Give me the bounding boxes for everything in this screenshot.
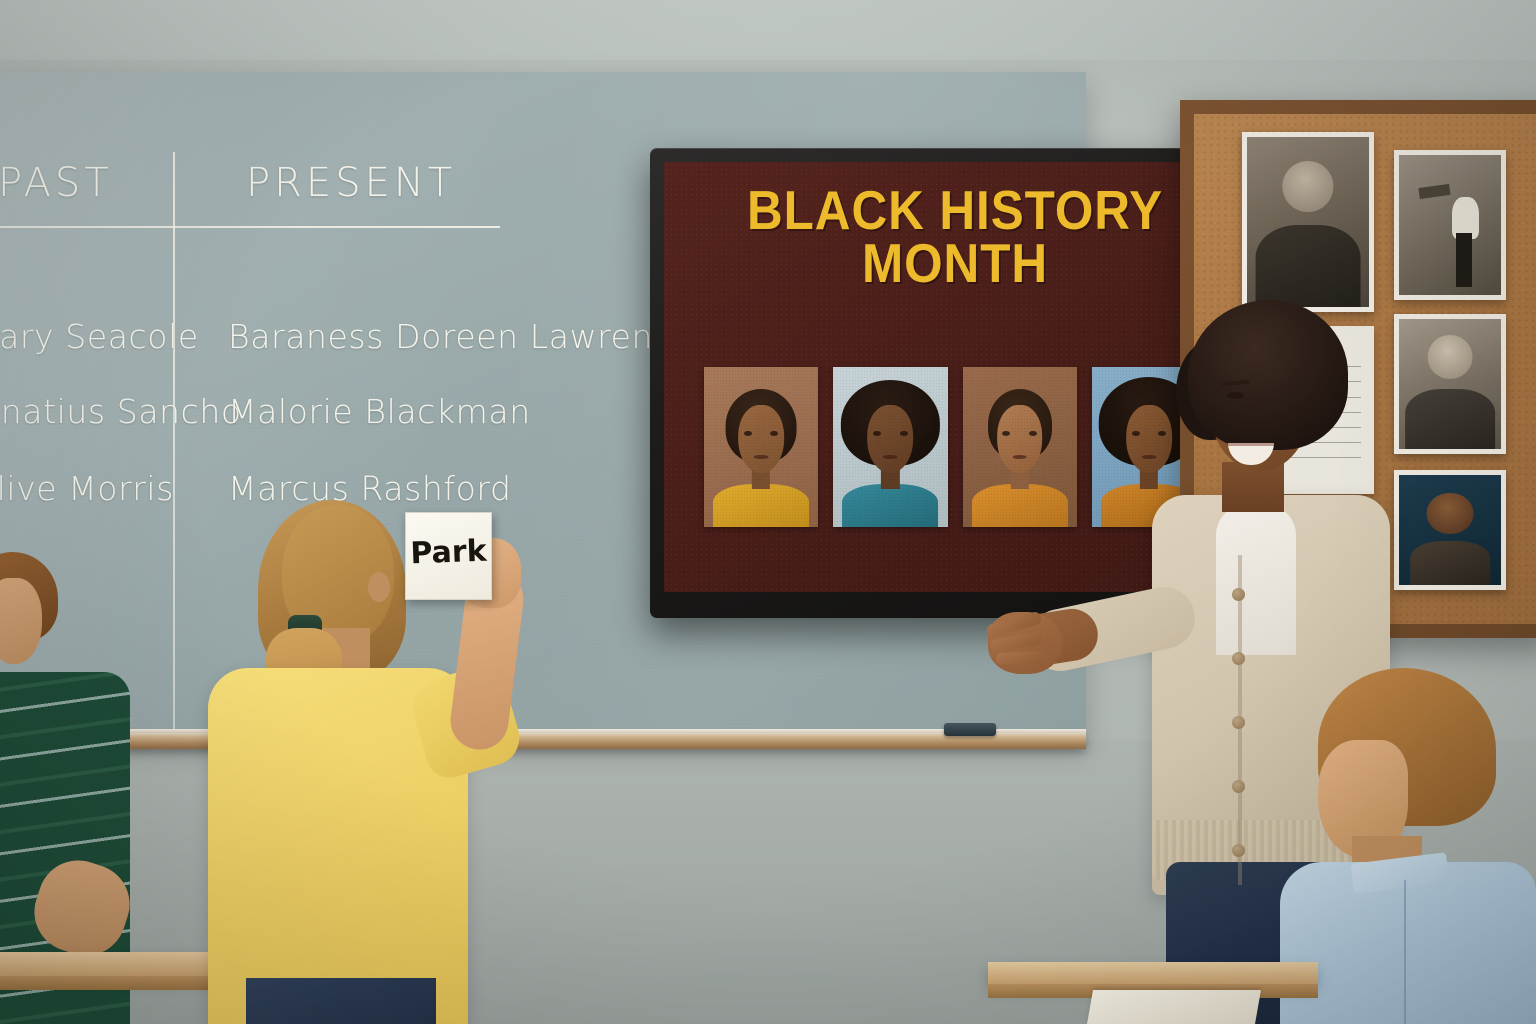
column-header-present: PRESENT [246, 160, 456, 206]
slide-portrait-3 [963, 367, 1077, 527]
teacher-button-1 [1232, 588, 1245, 601]
teacher-button-5 [1232, 844, 1245, 857]
past-name-3: Olive Morris [0, 469, 174, 508]
header-rule [0, 226, 500, 228]
teacher-top [1216, 505, 1296, 655]
past-name-2: Ignatius Sancho [0, 392, 242, 431]
board-photo-color[interactable] [1394, 470, 1506, 590]
slide-title-line2: MONTH [693, 237, 1217, 290]
column-header-past: PAST [0, 160, 113, 206]
classroom-scene: PAST PRESENT Mary Seacole Ignatius Sanch… [0, 0, 1536, 1024]
slide-portrait-1 [704, 367, 818, 527]
present-name-1: Baraness Doreen Lawrence [228, 317, 693, 356]
whiteboard-ledge [0, 733, 1086, 749]
slide-portrait-row [704, 367, 1206, 527]
present-name-3: Marcus Rashford [228, 469, 512, 508]
desk-right[interactable] [988, 962, 1318, 984]
teacher-button-2 [1232, 652, 1245, 665]
column-divider [173, 152, 175, 732]
student-girl-ear [368, 572, 390, 602]
flashcard-text: Park [405, 534, 491, 572]
board-photo-archival[interactable] [1394, 150, 1506, 300]
slide-title: BLACK HISTORY MONTH [693, 184, 1217, 290]
board-photo-portrait-2[interactable] [1394, 314, 1506, 454]
flashcard[interactable]: Park [405, 512, 492, 600]
teacher-button-3 [1232, 716, 1245, 729]
teacher-hair [1188, 300, 1348, 450]
board-photo-portrait-1[interactable] [1242, 132, 1374, 312]
student-girl-jeans [246, 978, 436, 1024]
present-name-2: Malorie Blackman [228, 392, 531, 431]
past-name-1: Mary Seacole [0, 317, 199, 356]
notebook[interactable] [1087, 990, 1261, 1024]
student-right-seam [1404, 880, 1406, 1024]
teacher-button-4 [1232, 780, 1245, 793]
slide-portrait-2 [833, 367, 947, 527]
teacher-eye [1227, 392, 1244, 399]
marker-icon[interactable] [944, 723, 996, 736]
teacher-finger-3 [996, 651, 1042, 665]
